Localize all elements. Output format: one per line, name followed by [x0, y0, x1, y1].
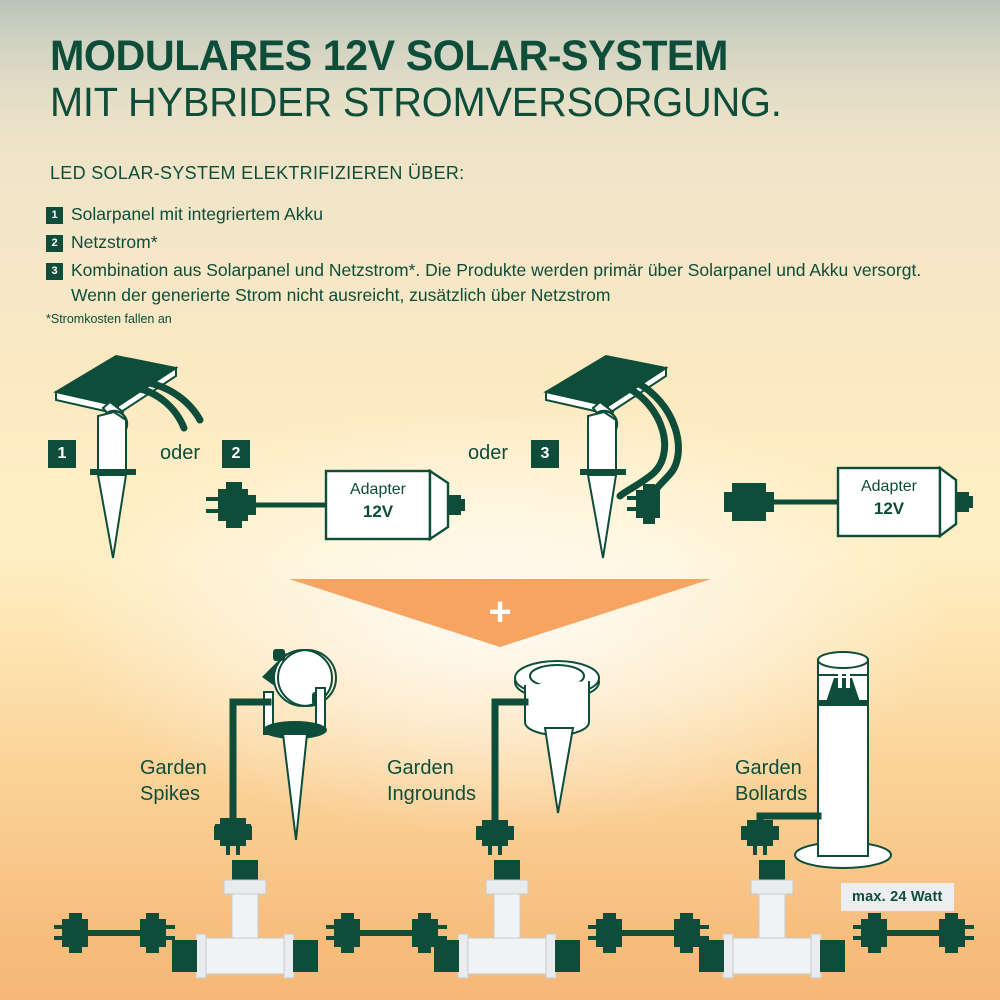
- title-line-2: MIT HYBRIDER STROMVERSORGUNG.: [50, 79, 923, 127]
- list-item: 3 Kombination aus Solarpanel und Netzstr…: [46, 258, 946, 308]
- product-label-spikes: Garden Spikes: [140, 755, 207, 807]
- adapter-assembly-right: Adapter 12V: [627, 468, 973, 536]
- product-label-ingrounds: Garden Ingrounds: [387, 755, 476, 807]
- list-item-text: Solarpanel mit integriertem Akku: [71, 202, 323, 227]
- max-watt-badge: max. 24 Watt: [841, 883, 954, 911]
- mains-plug-icon: [206, 482, 256, 528]
- product-label-line-1: Garden: [140, 755, 207, 781]
- tee-connector: [172, 860, 318, 978]
- lamp-plug-icon: [741, 820, 779, 855]
- cable-chain: [54, 860, 974, 978]
- product-label-bollards: Garden Bollards: [735, 755, 807, 807]
- extension-cable: [588, 913, 709, 953]
- option-1-badge: 1: [48, 440, 76, 468]
- power-source-diagram: 1 2 3 oder oder: [0, 340, 1000, 590]
- footnote: *Stromkosten fallen an: [46, 312, 172, 326]
- connector-word-oder-2: oder: [468, 442, 538, 465]
- extension-cable: [853, 913, 974, 953]
- title-line-1: MODULARES 12V SOLAR-SYSTEM: [50, 34, 914, 79]
- garden-inground-fixture: [476, 661, 599, 855]
- plus-icon: +: [488, 592, 511, 632]
- list-item: 1 Solarpanel mit integriertem Akku: [46, 202, 946, 227]
- product-label-line-2: Spikes: [140, 781, 207, 807]
- numbered-list: 1 Solarpanel mit integriertem Akku 2 Net…: [46, 202, 946, 311]
- list-item-text: Kombination aus Solarpanel und Netzstrom…: [71, 258, 943, 308]
- connector-word-oder-1: oder: [160, 442, 230, 465]
- cable-coupler-icon: [724, 483, 774, 521]
- adapter-voltage: 12V: [326, 501, 430, 523]
- product-label-line-1: Garden: [387, 755, 476, 781]
- tee-connector: [434, 860, 580, 978]
- adapter-assembly-left: Adapter 12V: [206, 471, 465, 539]
- page-title: MODULARES 12V SOLAR-SYSTEM MIT HYBRIDER …: [50, 34, 950, 126]
- products-diagram: [0, 630, 1000, 1000]
- list-number-badge: 1: [46, 207, 63, 224]
- tee-connector: [699, 860, 845, 978]
- product-label-line-1: Garden: [735, 755, 807, 781]
- infographic-canvas: MODULARES 12V SOLAR-SYSTEM MIT HYBRIDER …: [0, 0, 1000, 1000]
- adapter-voltage: 12V: [838, 498, 940, 520]
- product-label-line-2: Ingrounds: [387, 781, 476, 807]
- adapter-label: Adapter: [326, 479, 430, 501]
- list-item: 2 Netzstrom*: [46, 230, 946, 255]
- extension-cable: [326, 913, 447, 953]
- product-label-line-2: Bollards: [735, 781, 807, 807]
- list-number-badge: 2: [46, 235, 63, 252]
- garden-spike-fixture: [214, 649, 336, 855]
- list-number-badge: 3: [46, 263, 63, 280]
- extension-cable: [54, 913, 175, 953]
- intro-label: LED SOLAR-SYSTEM ELEKTRIFIZIEREN ÜBER:: [50, 163, 464, 184]
- lamp-plug-icon: [476, 820, 514, 855]
- adapter-label: Adapter: [838, 476, 940, 498]
- list-item-text: Netzstrom*: [71, 230, 158, 255]
